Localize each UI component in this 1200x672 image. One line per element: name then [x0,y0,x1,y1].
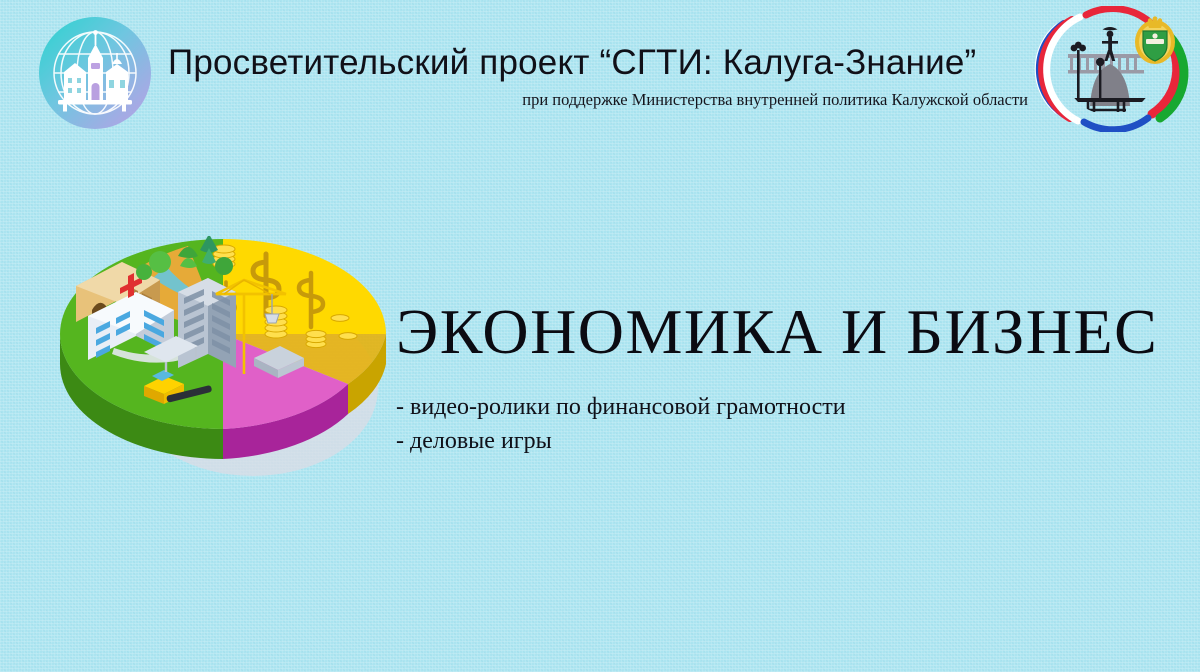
header-text-block: Просветительский проект “СГТИ: Калуга-Зн… [168,44,1034,109]
page-title: Просветительский проект “СГТИ: Калуга-Зн… [168,44,1034,81]
isometric-3d-pie-chart [48,236,398,496]
list-item: - деловые игры [396,424,1156,458]
slide-content: ЭКОНОМИКА И БИЗНЕС - видео-ролики по фин… [0,140,1200,672]
list-item: - видео-ролики по финансовой грамотности [396,390,1156,424]
kaluga-znanie-globe-logo [36,14,154,132]
kaluga-region-emblem [1024,6,1194,132]
activity-list: - видео-ролики по финансовой грамотности… [396,390,1156,458]
section-headline: ЭКОНОМИКА И БИЗНЕС [396,300,1156,364]
slide-canvas: Просветительский проект “СГТИ: Калуга-Зн… [0,0,1200,672]
coat-of-arms-icon [1135,16,1175,64]
support-credit-line: при поддержке Министерства внутренней по… [168,91,1034,109]
copy-block: ЭКОНОМИКА И БИЗНЕС - видео-ролики по фин… [396,300,1156,458]
slide-header: Просветительский проект “СГТИ: Калуга-Зн… [0,0,1200,140]
